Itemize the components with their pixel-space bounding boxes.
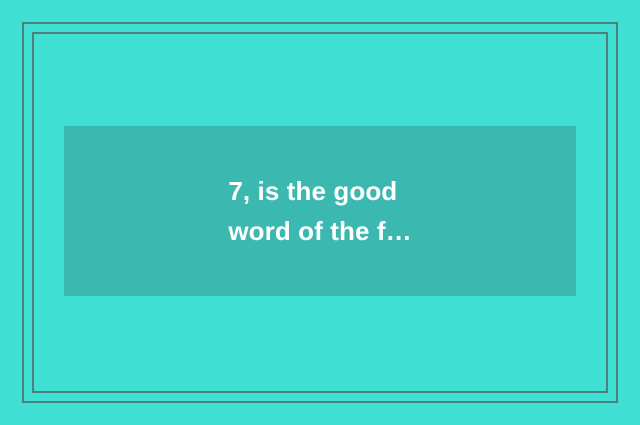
quote-line-2: word of the f… (228, 211, 411, 251)
quote-panel: 7, is the goodword of the f… (64, 126, 576, 296)
quote-card-canvas: 7, is the goodword of the f… (0, 0, 640, 425)
quote-line-1: 7, is the good (228, 171, 411, 211)
quote-text-block: 7, is the goodword of the f… (228, 171, 411, 251)
